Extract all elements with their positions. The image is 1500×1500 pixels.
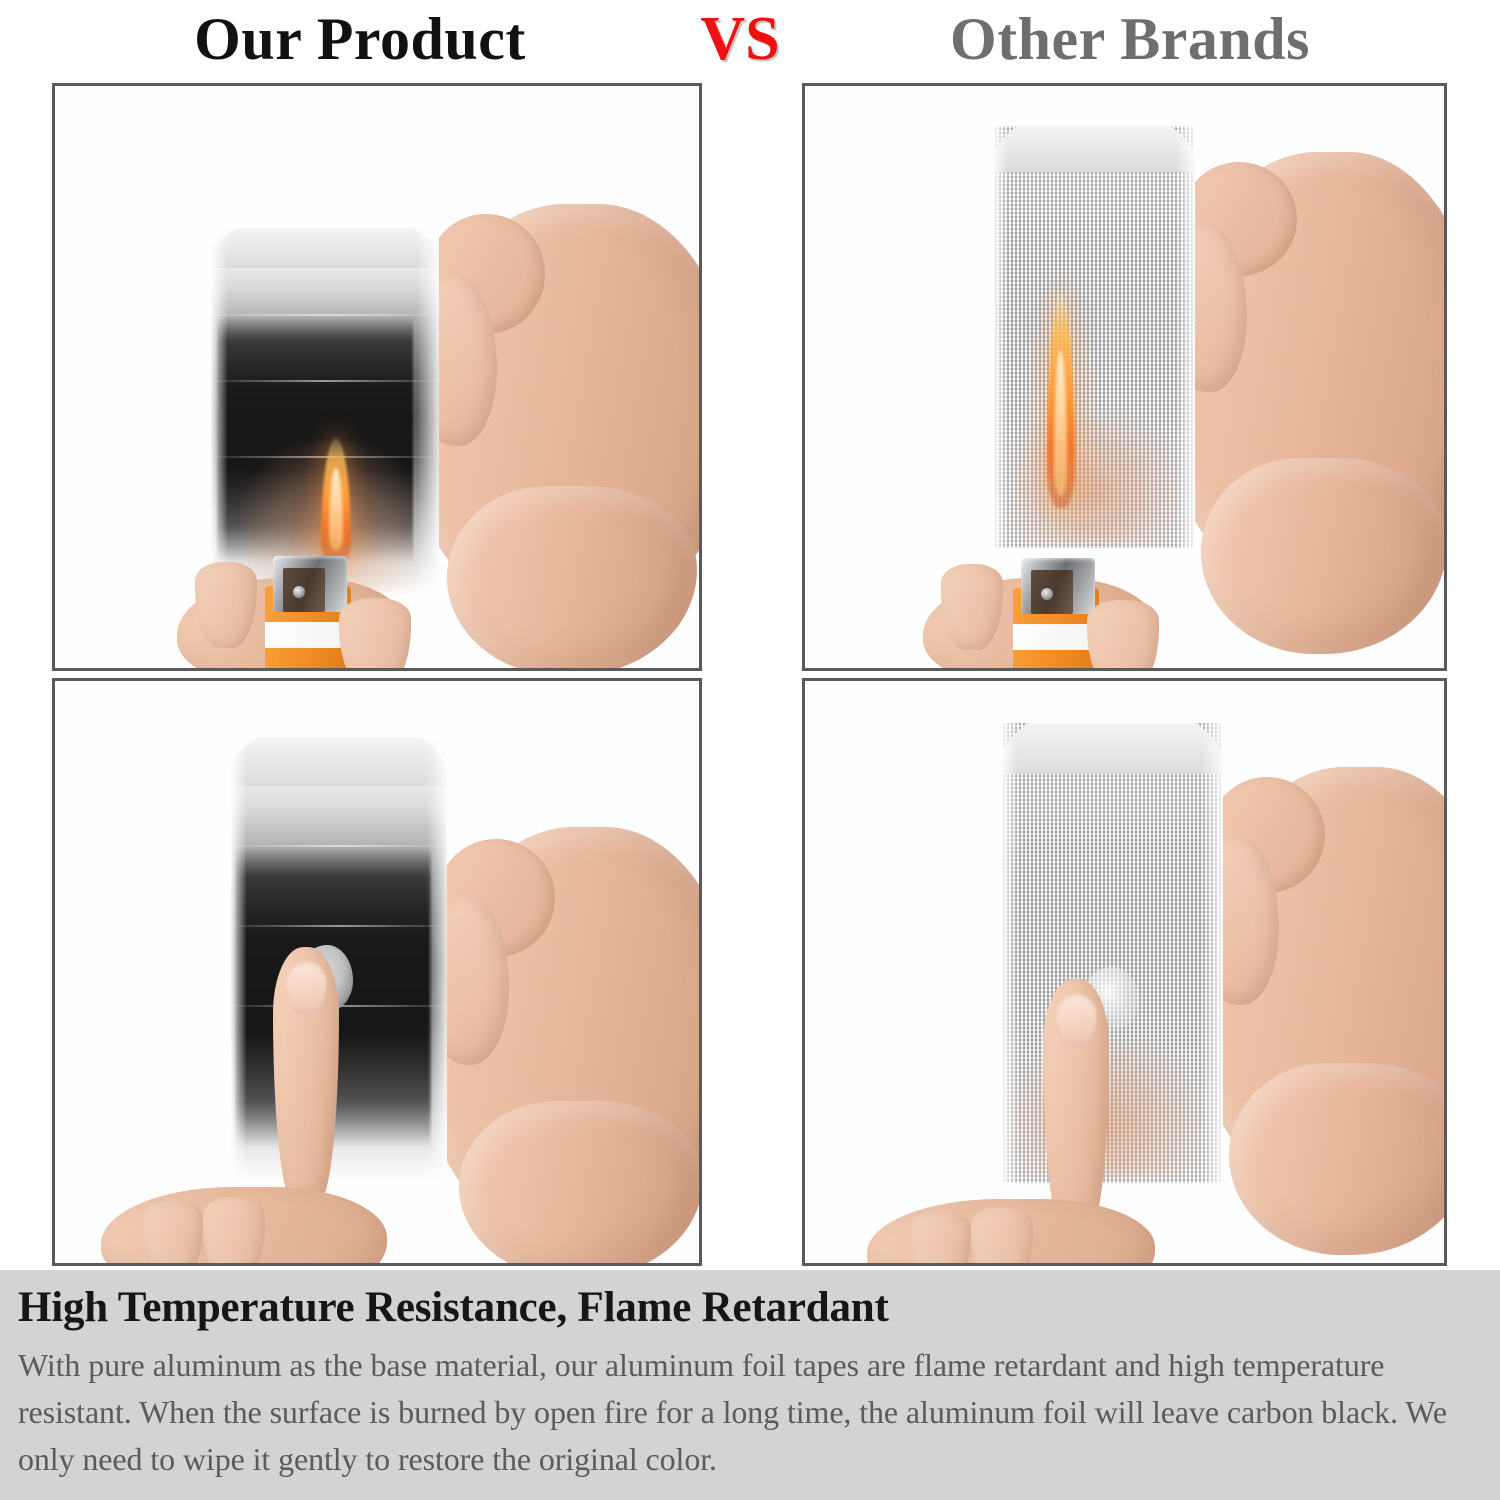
- comparison-header: Our Product VS Other Brands: [0, 0, 1500, 78]
- panel-our-product-wiped: [52, 678, 702, 1266]
- scene-other-brands-burning: [805, 86, 1444, 668]
- lighter-fingers: [339, 598, 411, 671]
- roll-top-face: [993, 126, 1195, 172]
- roll-seam: [231, 925, 447, 927]
- roll-left-highlight: [231, 737, 246, 1183]
- header-vs-label: VS: [660, 8, 820, 70]
- tape-roll-textured: [993, 126, 1195, 548]
- roll-seam: [211, 314, 439, 316]
- hand-lower-palm: [447, 486, 697, 671]
- hand-lower-palm: [459, 1101, 702, 1266]
- lighter-fingers: [1087, 600, 1159, 671]
- caption-title: High Temperature Resistance, Flame Retar…: [18, 1284, 1474, 1332]
- roll-right-highlight: [428, 737, 447, 1183]
- lower-finger: [911, 1211, 971, 1266]
- lighter-spark-wheel: [1041, 588, 1053, 600]
- roll-left-highlight: [1001, 723, 1017, 1183]
- panel-our-product-burning: [52, 83, 702, 671]
- lower-finger: [143, 1201, 203, 1266]
- roll-left-highlight: [993, 126, 1007, 548]
- hand-lower-palm: [1229, 1063, 1447, 1255]
- hand-lower-palm: [1201, 458, 1447, 654]
- roll-seam: [211, 380, 439, 382]
- roll-top-face: [1001, 723, 1223, 774]
- panel-other-brands-wiped: [802, 678, 1447, 1266]
- tape-roll-textured: [1001, 723, 1223, 1183]
- lower-finger: [203, 1197, 265, 1266]
- panel-other-brands-burning: [802, 83, 1447, 671]
- roll-seam: [231, 845, 447, 847]
- tape-roll-smooth: [231, 737, 447, 1183]
- roll-top-face: [231, 737, 447, 786]
- scene-our-product-wiped: [55, 681, 699, 1263]
- comparison-grid: [0, 80, 1500, 1270]
- roll-right-highlight: [418, 228, 439, 596]
- header-other-brands-label: Other Brands: [820, 9, 1440, 69]
- heat-glow: [1009, 412, 1179, 544]
- lighter-spark-wheel: [293, 586, 305, 598]
- roll-right-highlight: [1177, 126, 1195, 548]
- caption-body: With pure aluminum as the base material,…: [18, 1342, 1474, 1482]
- product-comparison-page: Our Product VS Other Brands: [0, 0, 1500, 1500]
- caption-band: High Temperature Resistance, Flame Retar…: [0, 1270, 1500, 1500]
- scene-our-product-burning: [55, 86, 699, 668]
- roll-top-face: [211, 228, 439, 268]
- roll-left-highlight: [211, 228, 227, 596]
- lower-finger: [971, 1207, 1033, 1266]
- scene-other-brands-wiped: [805, 681, 1444, 1263]
- header-our-product-label: Our Product: [60, 9, 660, 69]
- roll-right-highlight: [1203, 723, 1223, 1183]
